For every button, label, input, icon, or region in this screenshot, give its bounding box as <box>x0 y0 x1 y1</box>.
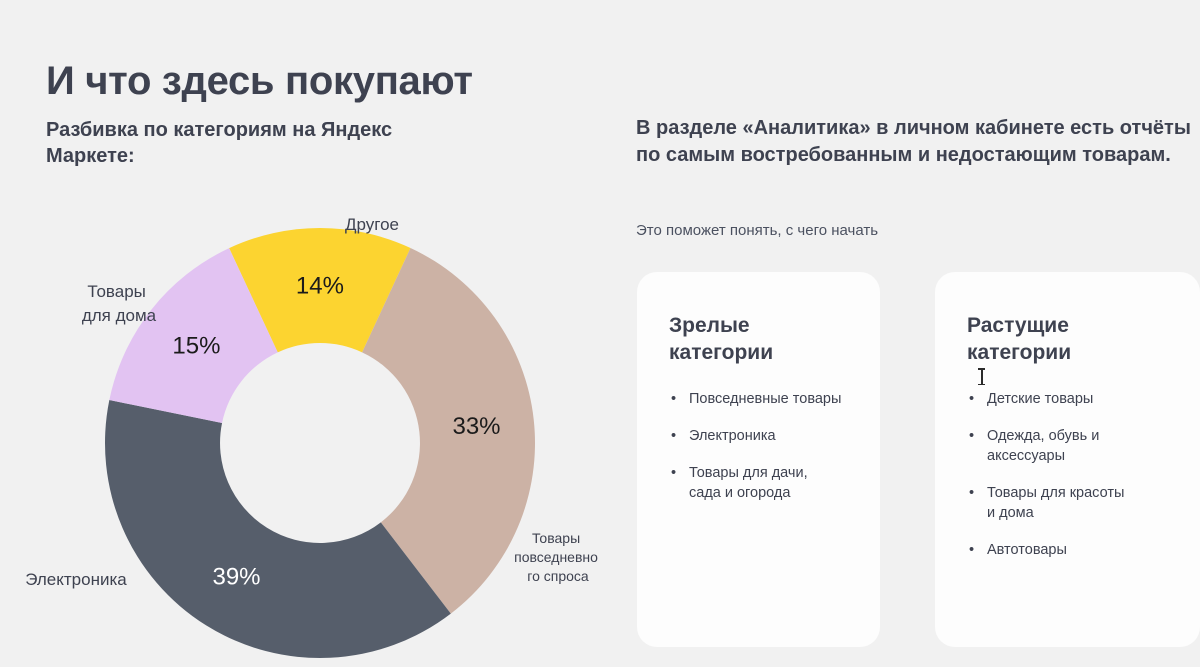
donut-label-electronics: Электроника <box>25 570 127 589</box>
card-mature-list: Повседневные товары Электроника Товары д… <box>669 389 848 503</box>
list-item: Одежда, обувь и аксессуары <box>967 426 1168 466</box>
list-item: Товары для дачи, сада и огорода <box>669 463 848 503</box>
list-item: Электроника <box>669 426 848 446</box>
donut-value-other: 14% <box>296 273 344 300</box>
analytics-heading: В разделе «Аналитика» в личном кабинете … <box>636 115 1196 169</box>
donut-value-home-goods: 15% <box>172 333 220 360</box>
donut-value-everyday-goods: 33% <box>452 413 500 440</box>
page-title: И что здесь покупают <box>46 59 473 103</box>
card-growing-categories[interactable]: Растущие категории Детские товары Одежда… <box>935 272 1200 647</box>
donut-label-everyday-goods: Товары повседневно го спроса <box>514 530 602 584</box>
list-item: Повседневные товары <box>669 389 848 409</box>
chart-subtitle: Разбивка по категориям на Яндекс Маркете… <box>46 117 466 170</box>
card-mature-categories[interactable]: Зрелые категории Повседневные товары Эле… <box>637 272 880 647</box>
list-item: Товары для красоты и дома <box>967 483 1168 523</box>
card-growing-title: Растущие категории <box>967 312 1168 367</box>
donut-value-electronics: 39% <box>212 564 260 591</box>
card-mature-title: Зрелые категории <box>669 312 848 367</box>
slide-root: И что здесь покупают Разбивка по категор… <box>0 0 1200 667</box>
list-item: Автотовары <box>967 540 1168 560</box>
donut-label-other: Другое <box>345 215 399 234</box>
category-donut-chart: 14% 33% 39% 15% Другое Товары повседневн… <box>0 190 620 667</box>
donut-label-home-goods: Товары для дома <box>82 282 157 325</box>
list-item: Детские товары <box>967 389 1168 409</box>
donut-svg: 14% 33% 39% 15% Другое Товары повседневн… <box>0 190 620 667</box>
card-growing-list: Детские товары Одежда, обувь и аксессуар… <box>967 389 1168 560</box>
analytics-subheading: Это поможет понять, с чего начать <box>636 222 878 239</box>
